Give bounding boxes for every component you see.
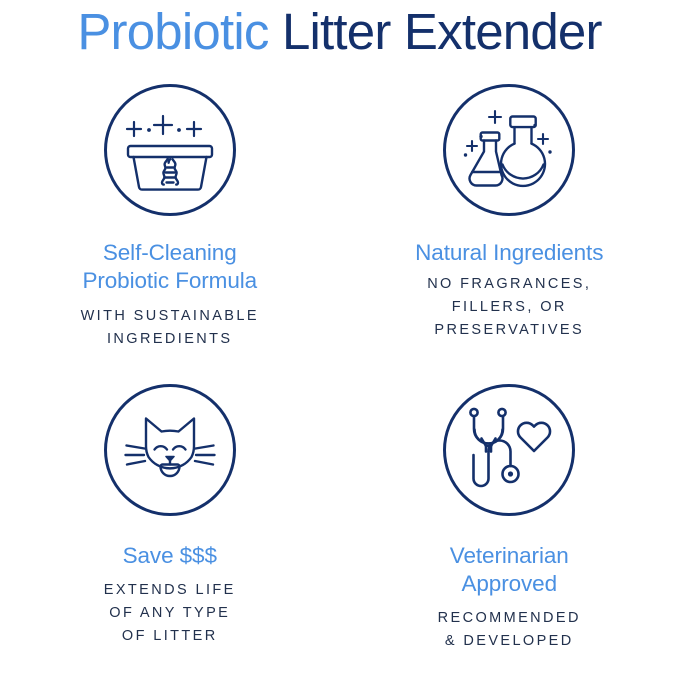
feature-item-veterinarian-approved: Veterinarian Approved RECOMMENDED & DEVE… [340, 384, 679, 684]
feature-heading: Natural Ingredients [415, 239, 603, 267]
page-title-probiotic: Probiotic [77, 3, 268, 60]
litter-box-sparkles-icon [104, 84, 236, 216]
feature-heading: Self-Cleaning Probiotic Formula [82, 239, 257, 295]
feature-heading: Veterinarian Approved [450, 542, 569, 598]
page-title-litter-extender: Litter Extender [282, 3, 602, 60]
feature-subtext: NO FRAGRANCES, FILLERS, OR PRESERVATIVES [427, 273, 591, 342]
happy-cat-face-icon [104, 384, 236, 516]
page-title: Probiotic Litter Extender [0, 0, 679, 66]
feature-item-natural-ingredients: Natural Ingredients NO FRAGRANCES, FILLE… [340, 84, 679, 384]
feature-subtext: WITH SUSTAINABLE INGREDIENTS [81, 305, 259, 351]
feature-item-self-cleaning: Self-Cleaning Probiotic Formula WITH SUS… [0, 84, 340, 384]
feature-heading: Save $$$ [123, 542, 217, 570]
feature-item-save-money: Save $$$ EXTENDS LIFE OF ANY TYPE OF LIT… [0, 384, 340, 684]
feature-subtext: EXTENDS LIFE OF ANY TYPE OF LITTER [104, 579, 236, 648]
stethoscope-heart-icon [443, 384, 575, 516]
product-feature-infographic: Probiotic Litter Extender [0, 0, 679, 651]
feature-subtext: RECOMMENDED & DEVELOPED [438, 607, 581, 653]
flasks-sparkles-icon [443, 84, 575, 216]
feature-grid: Self-Cleaning Probiotic Formula WITH SUS… [0, 84, 679, 684]
